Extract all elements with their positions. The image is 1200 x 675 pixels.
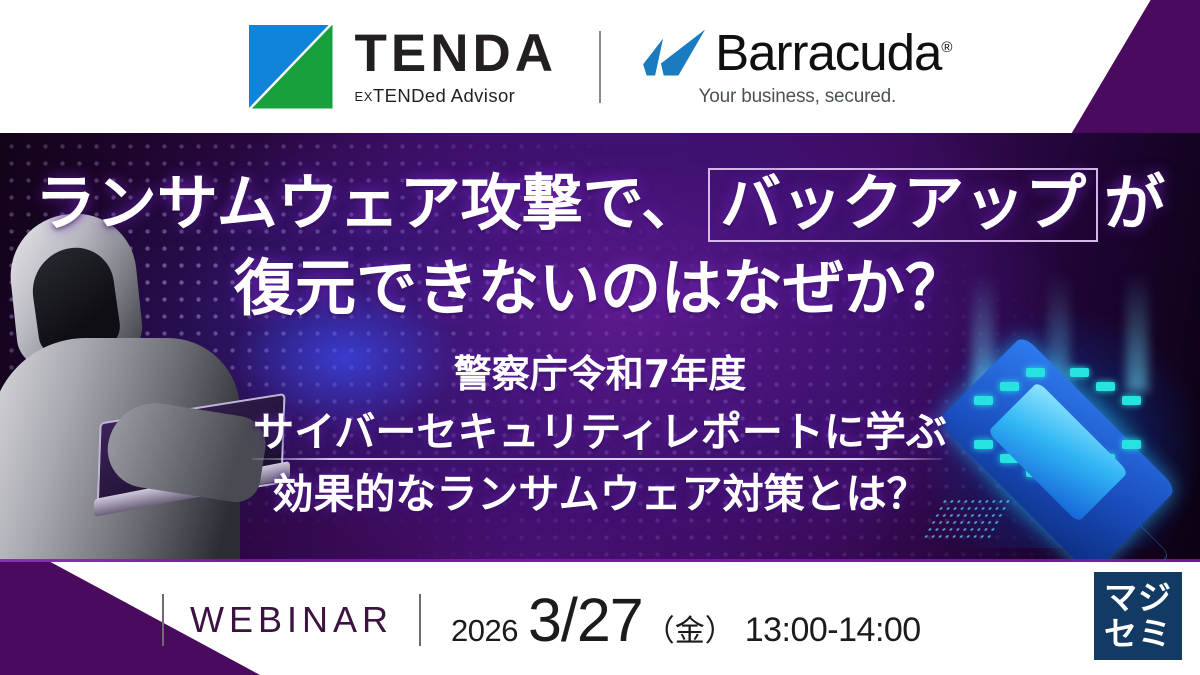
- subtitle-line-2: サイバーセキュリティレポートに学ぶ: [0, 412, 1200, 453]
- subtitle-divider: [252, 458, 942, 460]
- footer-bar: WEBINAR 2026 3/27 （金） 13:00-14:00 マジ セミ: [0, 565, 1200, 675]
- majisemi-line-2: セミ: [1104, 616, 1172, 652]
- headline-1-before: ランサムウェア攻撃で、: [35, 168, 702, 239]
- headline-line-2: 復元できないのはなぜか？: [0, 258, 1200, 319]
- majisemi-line-1: マジ: [1104, 580, 1172, 616]
- footer-content: WEBINAR 2026 3/27 （金） 13:00-14:00: [162, 585, 921, 655]
- headline-1-boxed-term: バックアップ: [708, 168, 1098, 242]
- subtitle-line-3: 効果的なランサムウェア対策とは？: [0, 474, 1200, 515]
- event-datetime: 2026 3/27 （金） 13:00-14:00: [421, 585, 921, 655]
- event-year: 2026: [451, 613, 518, 649]
- headline-line-1: ランサムウェア攻撃で、バックアップが: [0, 168, 1200, 242]
- subtitle-line-1: 警察庁令和7年度: [0, 355, 1200, 393]
- webinar-label: WEBINAR: [164, 599, 419, 641]
- event-date: 3/27: [518, 585, 643, 655]
- webinar-banner: TENDA EXTENDed Advisor Barracuda® Your b…: [0, 0, 1200, 675]
- event-time: 13:00-14:00: [735, 611, 921, 650]
- event-weekday: （金）: [643, 606, 735, 650]
- majisemi-logo: マジ セミ: [1094, 572, 1182, 660]
- headline-1-after: が: [1104, 168, 1165, 239]
